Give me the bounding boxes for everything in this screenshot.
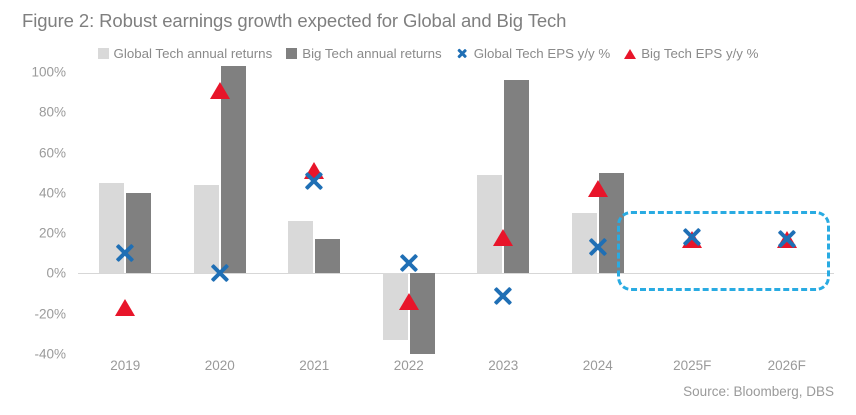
triangle-marker-icon bbox=[624, 49, 636, 59]
x-axis-labels: 2019202020212022202320242025F2026F bbox=[78, 358, 834, 382]
legend-item-1: Big Tech annual returns bbox=[286, 46, 441, 61]
marker-global-tech-eps-2021 bbox=[303, 170, 325, 192]
marker-big-tech-eps-2024 bbox=[588, 180, 608, 197]
y-tick-label: 40% bbox=[39, 185, 66, 200]
x-tick-label-2021: 2021 bbox=[299, 358, 329, 373]
marker-global-tech-eps-2020 bbox=[209, 262, 231, 284]
legend-item-3: Big Tech EPS y/y % bbox=[624, 46, 758, 61]
y-tick-label: -40% bbox=[34, 347, 66, 362]
marker-global-tech-eps-2022 bbox=[398, 252, 420, 274]
chart-legend: Global Tech annual returnsBig Tech annua… bbox=[22, 46, 834, 61]
plot-area bbox=[78, 72, 834, 354]
x-tick-label-2020: 2020 bbox=[205, 358, 235, 373]
y-tick-label: 0% bbox=[46, 266, 66, 281]
bar-global-tech-2023 bbox=[477, 175, 502, 274]
y-tick-label: -20% bbox=[34, 306, 66, 321]
legend-label: Global Tech EPS y/y % bbox=[474, 46, 610, 61]
marker-big-tech-eps-2019 bbox=[115, 299, 135, 316]
page-title: Figure 2: Robust earnings growth expecte… bbox=[22, 10, 566, 32]
bar-big-tech-2021 bbox=[315, 239, 340, 273]
x-tick-label-2024: 2024 bbox=[583, 358, 613, 373]
bar-global-tech-2020 bbox=[194, 185, 219, 274]
bar-big-tech-2022 bbox=[410, 273, 435, 354]
marker-global-tech-eps-2024 bbox=[587, 236, 609, 258]
square-swatch-dark bbox=[286, 48, 297, 59]
marker-big-tech-eps-2022 bbox=[399, 293, 419, 310]
legend-item-2: Global Tech EPS y/y % bbox=[456, 46, 610, 61]
marker-global-tech-eps-2025F bbox=[681, 226, 703, 248]
y-axis-labels: 100%80%60%40%20%0%-20%-40% bbox=[0, 72, 74, 354]
chart-figure: Figure 2: Robust earnings growth expecte… bbox=[0, 0, 856, 415]
x-tick-label-2026F: 2026F bbox=[768, 358, 806, 373]
legend-label: Big Tech annual returns bbox=[302, 46, 441, 61]
marker-global-tech-eps-2019 bbox=[114, 242, 136, 264]
bar-global-tech-2021 bbox=[288, 221, 313, 273]
legend-item-0: Global Tech annual returns bbox=[98, 46, 273, 61]
legend-label: Big Tech EPS y/y % bbox=[641, 46, 758, 61]
x-marker-icon bbox=[456, 47, 469, 60]
legend-label: Global Tech annual returns bbox=[114, 46, 273, 61]
y-tick-label: 80% bbox=[39, 105, 66, 120]
marker-global-tech-eps-2026F bbox=[776, 228, 798, 250]
forecast-highlight-box bbox=[617, 211, 831, 291]
x-tick-label-2025F: 2025F bbox=[673, 358, 711, 373]
marker-big-tech-eps-2020 bbox=[210, 82, 230, 99]
x-tick-label-2023: 2023 bbox=[488, 358, 518, 373]
source-note: Source: Bloomberg, DBS bbox=[683, 384, 834, 399]
square-swatch-light bbox=[98, 48, 109, 59]
marker-big-tech-eps-2023 bbox=[493, 229, 513, 246]
x-tick-label-2022: 2022 bbox=[394, 358, 424, 373]
y-tick-label: 20% bbox=[39, 226, 66, 241]
x-tick-label-2019: 2019 bbox=[110, 358, 140, 373]
y-tick-label: 100% bbox=[31, 65, 66, 80]
marker-global-tech-eps-2023 bbox=[492, 285, 514, 307]
y-tick-label: 60% bbox=[39, 145, 66, 160]
